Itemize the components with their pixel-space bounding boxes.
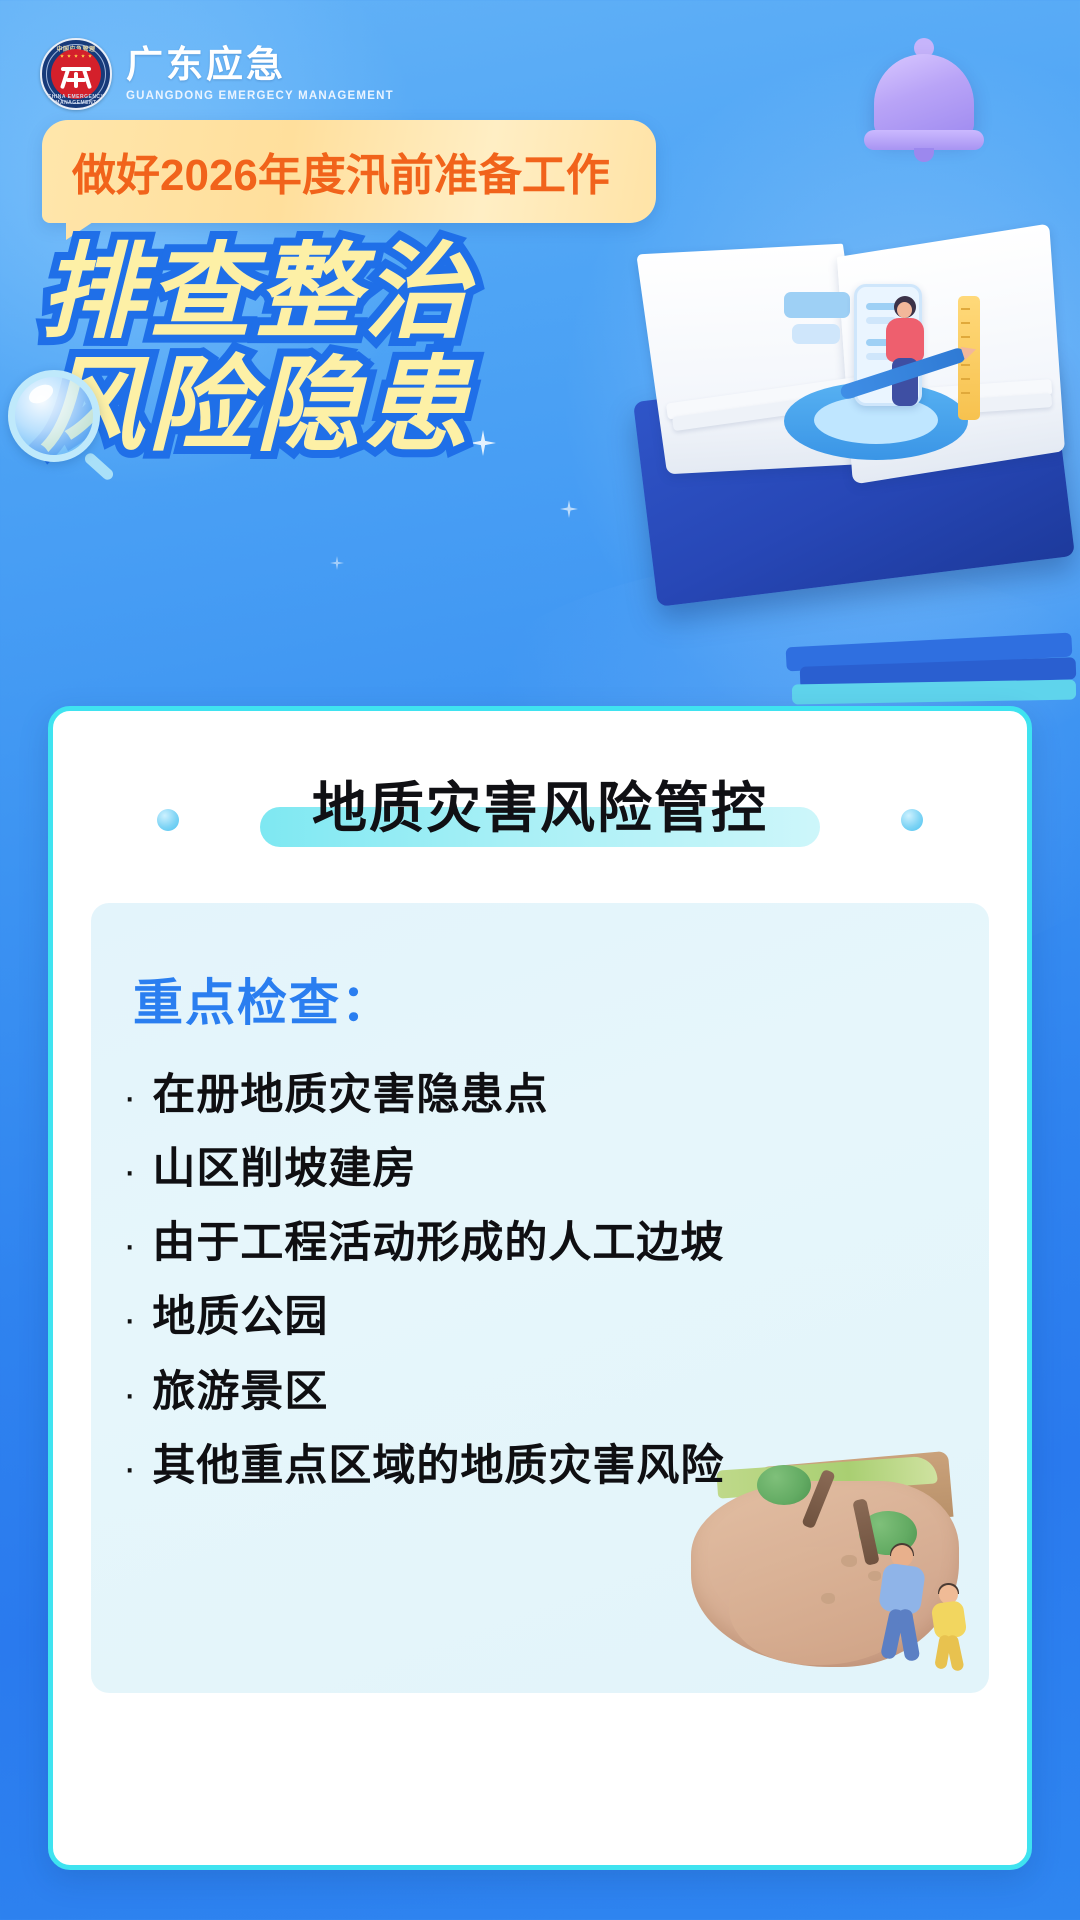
list-item-label: 在册地质灾害隐患点: [152, 1071, 548, 1119]
checklist-subtitle: 重点检查：: [133, 963, 989, 1035]
bullet-icon: ·: [123, 1299, 136, 1339]
list-item: · 山区削坡建房: [123, 1145, 989, 1193]
ribbon-label: 做好2026年度汛前准备工作: [72, 139, 610, 203]
list-item-label: 旅游景区: [152, 1368, 328, 1416]
list-item-label: 其他重点区域的地质灾害风险: [152, 1442, 724, 1490]
list-item: · 旅游景区: [123, 1368, 989, 1416]
fleeing-adult-figure: [875, 1545, 931, 1667]
fleeing-child-figure: [929, 1585, 971, 1673]
list-item: · 地质公园: [123, 1293, 989, 1341]
list-item-label: 地质公园: [152, 1293, 328, 1341]
sparkle-icon: [560, 500, 578, 518]
magnifier-icon: [8, 370, 100, 462]
bullet-icon: ·: [123, 1225, 136, 1265]
org-name-cn: 广东应急: [126, 46, 394, 84]
emblem-arc-bottom-label: CHINA EMERGENCY MANAGEMENT: [40, 94, 112, 106]
bullet-icon: ·: [123, 1374, 136, 1414]
card-heading: 地质灾害风险管控: [53, 763, 1027, 855]
poster-headline: 排查整治 风险隐患: [40, 240, 472, 460]
checklist-panel: 重点检查： · 在册地质灾害隐患点 · 山区削坡建房 · 由于工程活动形成的人工…: [91, 903, 989, 1693]
bullet-icon: ·: [123, 1151, 136, 1191]
bell-icon: [864, 30, 984, 162]
headline-line-1: 排查整治: [40, 240, 472, 347]
list-item-label: 山区削坡建房: [152, 1145, 416, 1193]
sparkle-icon: [470, 430, 496, 456]
landslide-illustration: [647, 1459, 977, 1689]
open-book-illustration: [620, 200, 1080, 670]
sparkle-icon: [330, 556, 344, 570]
list-item: · 其他重点区域的地质灾害风险: [123, 1442, 989, 1490]
bullet-icon: ·: [123, 1077, 136, 1117]
list-item-label: 由于工程活动形成的人工边坡: [152, 1219, 724, 1267]
headline-line-2: 风险隐患: [40, 353, 472, 460]
list-item: · 由于工程活动形成的人工边坡: [123, 1219, 989, 1267]
bullet-icon: ·: [123, 1448, 136, 1488]
list-item: · 在册地质灾害隐患点: [123, 1071, 989, 1119]
brand-header: 中国应急管理 CHINA EMERGENCY MANAGEMENT 广东应急 G…: [40, 38, 394, 110]
checklist: · 在册地质灾害隐患点 · 山区削坡建房 · 由于工程活动形成的人工边坡 · 地…: [91, 1071, 989, 1490]
content-card: 地质灾害风险管控 重点检查： · 在册地质灾害隐患点 · 山区削坡建房 · 由于…: [48, 706, 1032, 1870]
emergency-management-emblem-icon: 中国应急管理 CHINA EMERGENCY MANAGEMENT: [40, 38, 112, 110]
campaign-ribbon: 做好2026年度汛前准备工作: [42, 120, 656, 223]
decorative-dot-right: [901, 809, 923, 831]
org-name-en: GUANGDONG EMERGECY MANAGEMENT: [126, 90, 394, 102]
section-title: 地质灾害风险管控: [53, 763, 1027, 843]
